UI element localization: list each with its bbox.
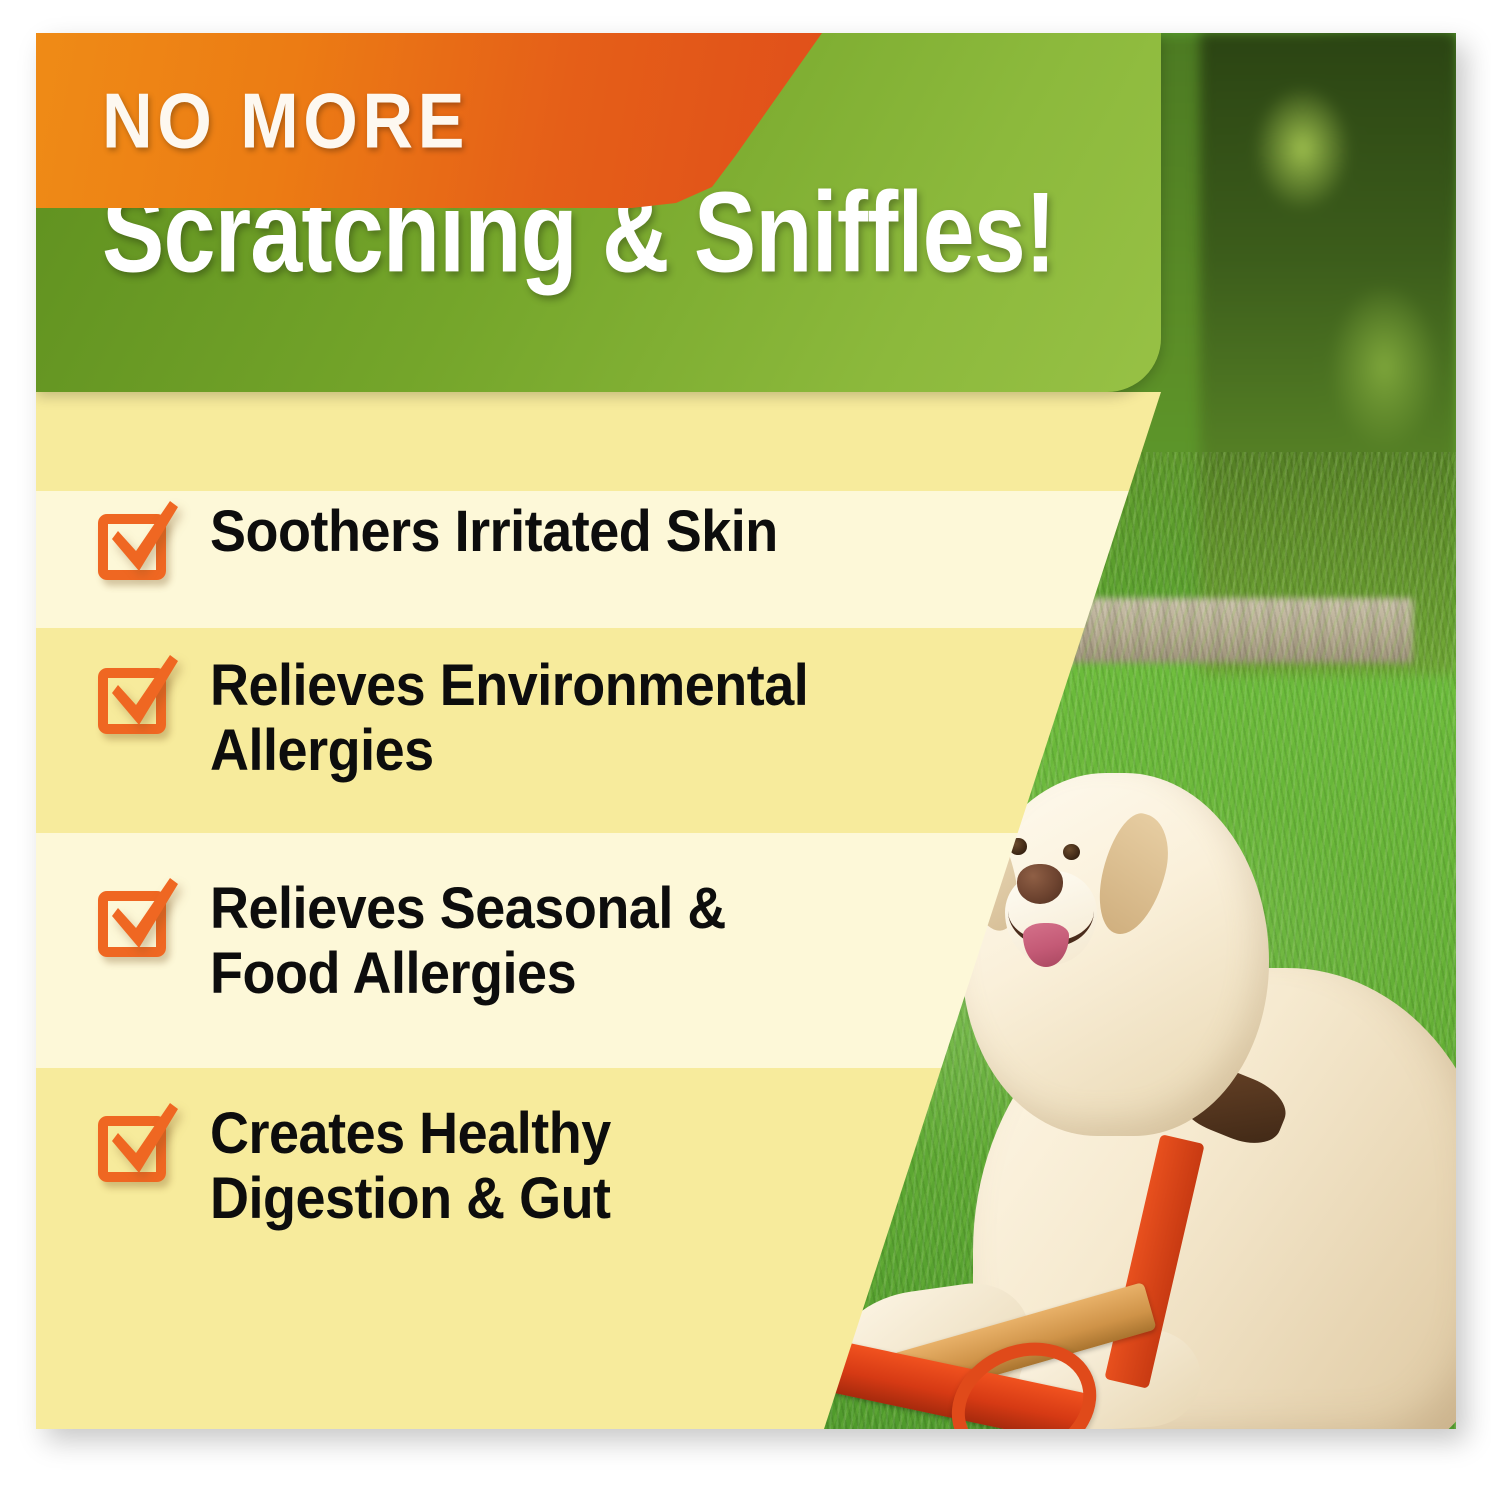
dog-nose: [1017, 864, 1063, 904]
checkmark-glyph: [98, 876, 184, 960]
checkbox-checked-icon: [94, 658, 178, 736]
eyebrow-text: NO MORE: [102, 76, 469, 167]
promo-card: Scratching & Sniffles! NO MORE Soothers …: [36, 33, 1456, 1429]
eyebrow-banner: NO MORE: [36, 33, 822, 208]
checkmark-glyph: [98, 1101, 184, 1185]
checkbox-checked-icon: [94, 504, 178, 582]
benefit-label: Soothers Irritated Skin: [210, 500, 778, 565]
dog-ear-right: [1089, 807, 1178, 942]
checkmark-glyph: [98, 653, 184, 737]
checkbox-checked-icon: [94, 881, 178, 959]
stripe-band-0: [36, 392, 1161, 491]
checkmark-glyph: [98, 499, 184, 583]
benefit-label: Relieves EnvironmentalAllergies: [210, 654, 808, 784]
benefit-label: Creates HealthyDigestion & Gut: [210, 1102, 611, 1232]
checkbox-checked-icon: [94, 1106, 178, 1184]
dog-eye-right: [1063, 844, 1080, 861]
benefit-row-2: Relieves Seasonal &Food Allergies: [36, 877, 765, 1007]
benefit-row-0: Soothers Irritated Skin: [36, 500, 821, 582]
benefit-row-3: Creates HealthyDigestion & Gut: [36, 1102, 641, 1232]
benefit-label: Relieves Seasonal &Food Allergies: [210, 877, 726, 1007]
benefit-row-1: Relieves EnvironmentalAllergies: [36, 654, 853, 784]
